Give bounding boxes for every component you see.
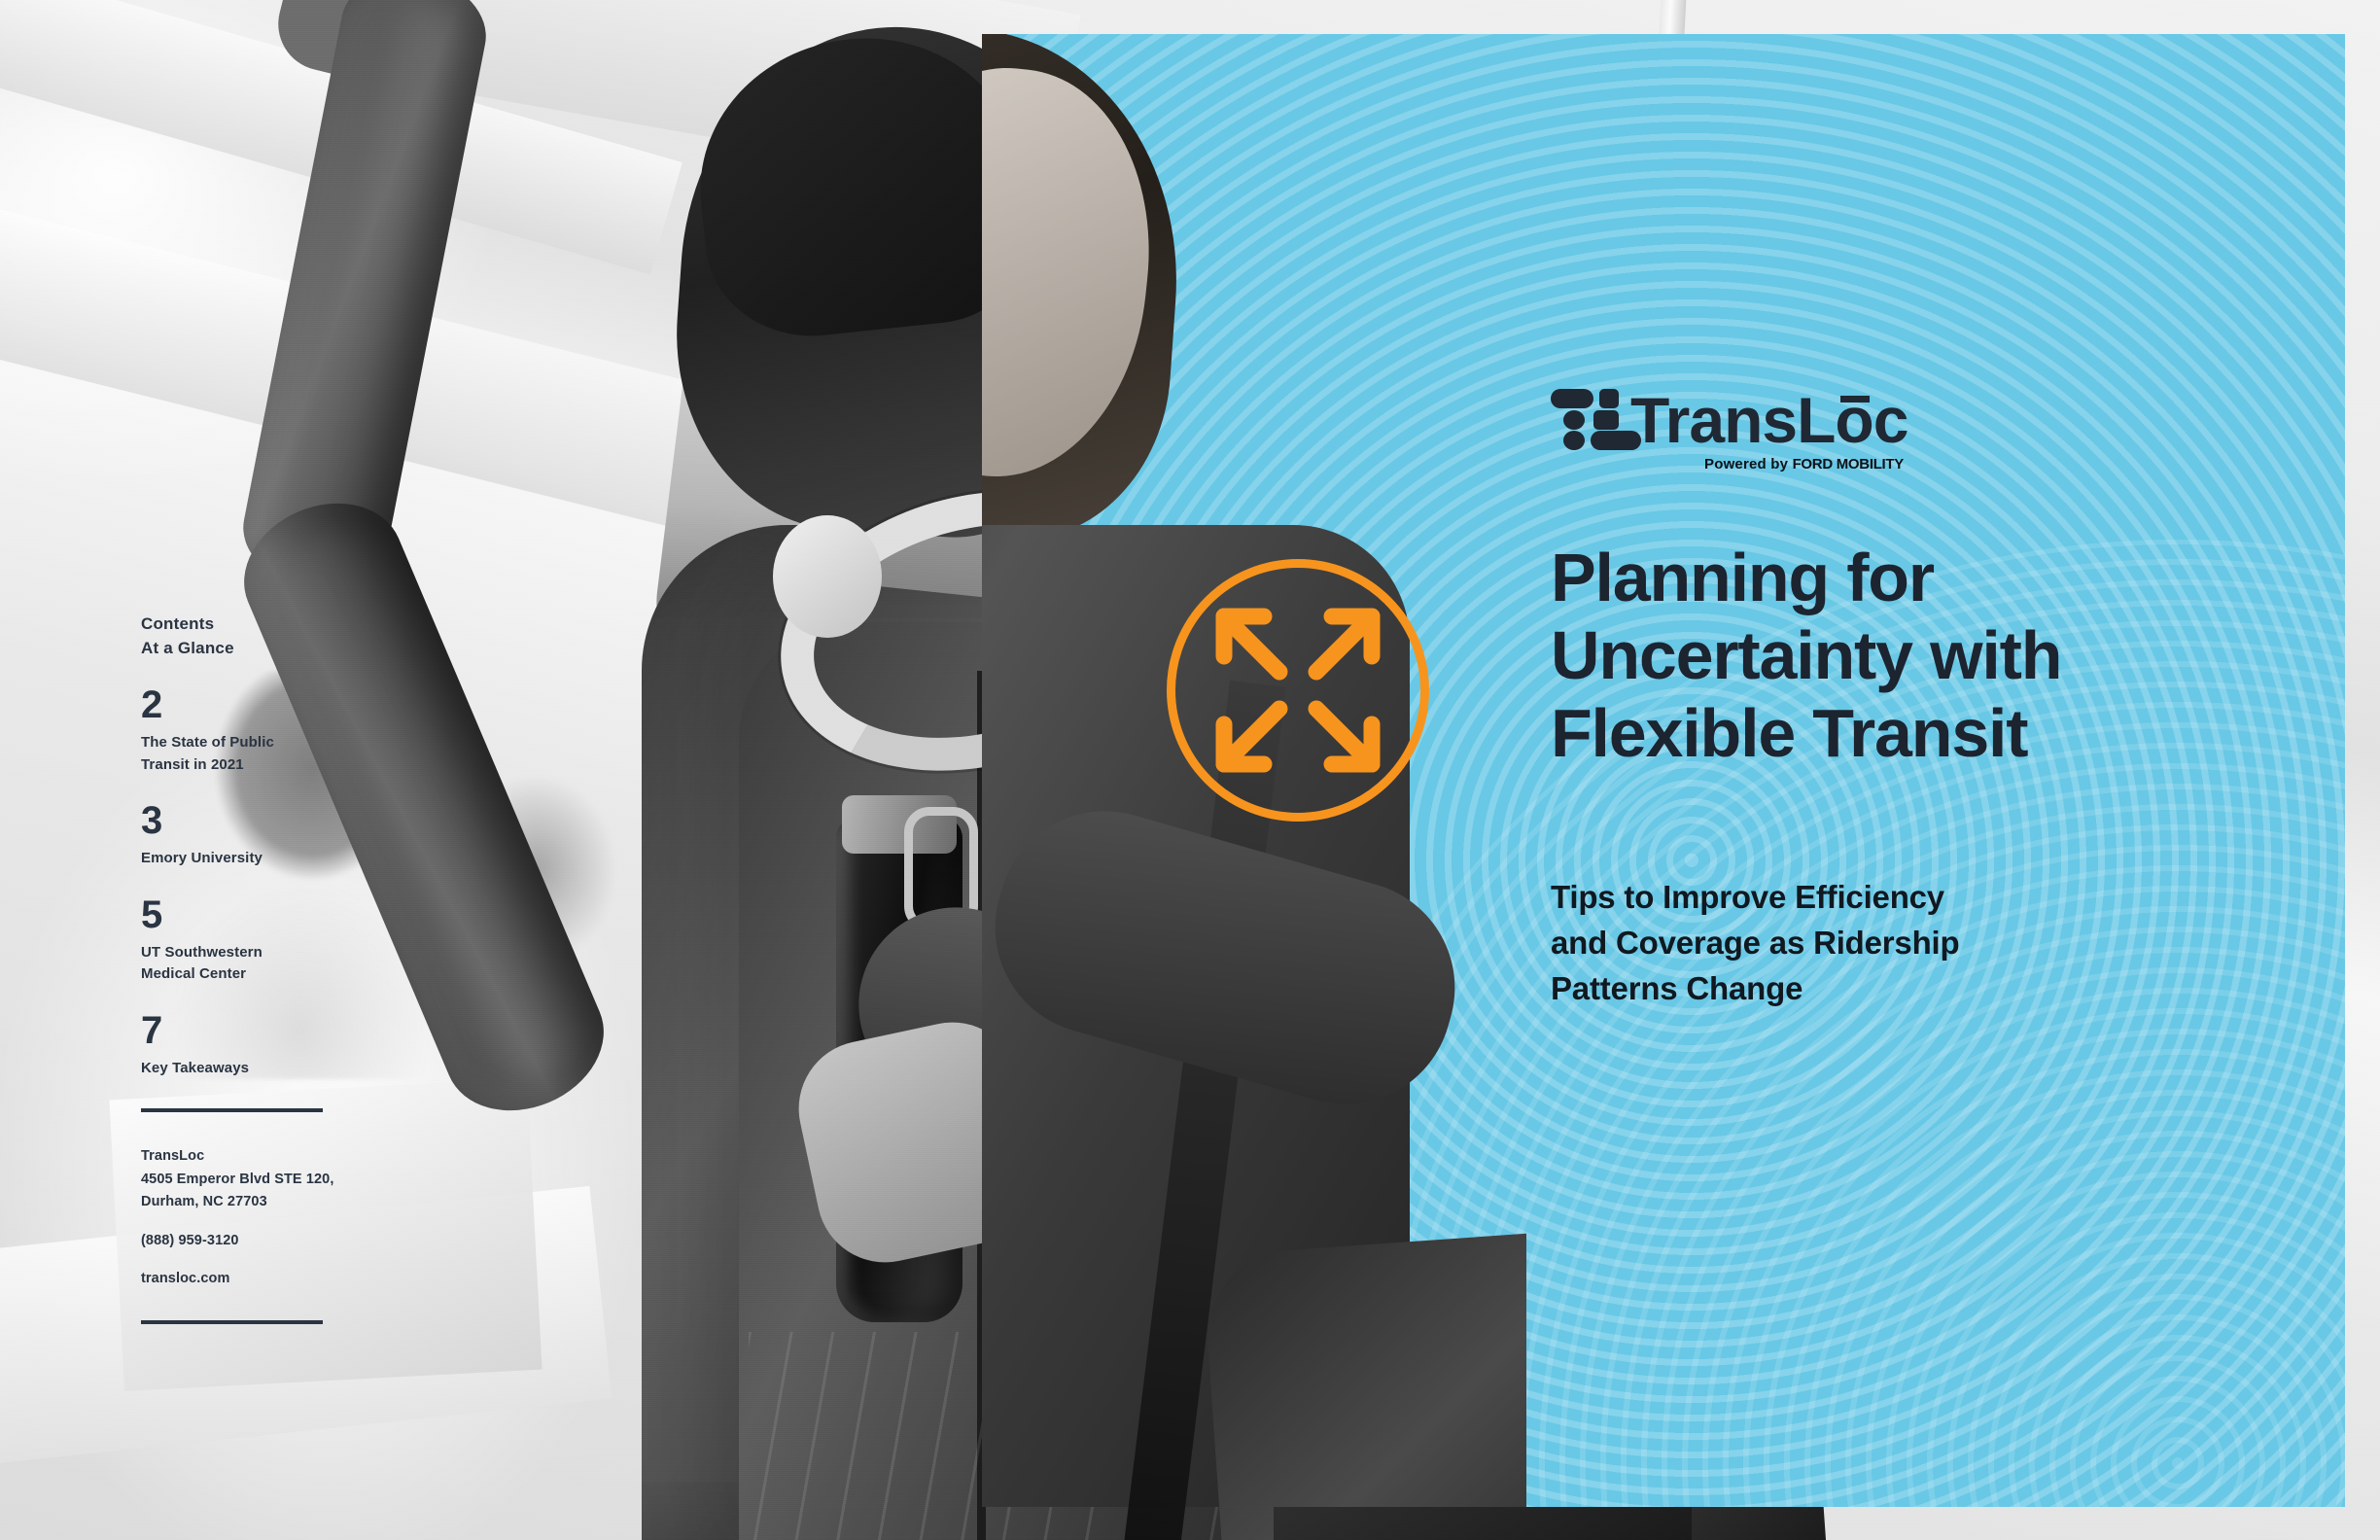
cover-title-line3: Flexible Transit <box>1551 695 2290 773</box>
toc-page-number: 7 <box>141 1011 413 1050</box>
cover-title-line2: Uncertainty with <box>1551 617 2290 695</box>
toc-entry-label: UT Southwestern Medical Center <box>141 942 413 986</box>
toc-entry-key-takeaways[interactable]: 7 Key Takeaways <box>141 1011 413 1080</box>
spacer <box>141 1252 413 1268</box>
powered-by-prefix: Powered by <box>1704 456 1793 472</box>
toc-entry-label: Key Takeaways <box>141 1058 413 1080</box>
transloc-dot-grid-icon <box>1551 389 1617 449</box>
toc-label-line1: Key Takeaways <box>141 1058 413 1080</box>
contact-block: TransLoc 4505 Emperor Blvd STE 120, Durh… <box>141 1145 413 1290</box>
toc-label-line1: Emory University <box>141 848 413 870</box>
toc-entry-ut-southwestern[interactable]: 5 UT Southwestern Medical Center <box>141 895 413 986</box>
cover-subtitle-line2: and Coverage as Ridership <box>1551 921 2173 966</box>
cover-subtitle-line3: Patterns Change <box>1551 966 2173 1012</box>
toc-page-number: 2 <box>141 685 413 724</box>
toc-label-line1: UT Southwestern <box>141 942 413 964</box>
cover-page: Contents At a Glance 2 The State of Publ… <box>0 0 2380 1540</box>
mark-dot-bottom-left <box>1563 431 1585 450</box>
toc-label-line2: Transit in 2021 <box>141 754 413 777</box>
toc-entry-label: Emory University <box>141 848 413 870</box>
toc-page-number: 3 <box>141 801 413 840</box>
toc-label-line1: The State of Public <box>141 732 413 754</box>
contents-sidebar: Contents At a Glance 2 The State of Publ… <box>141 612 413 1357</box>
toc-page-number: 5 <box>141 895 413 934</box>
mark-square-top-right <box>1599 389 1619 408</box>
contents-heading: Contents At a Glance <box>141 612 413 660</box>
contents-heading-line1: Contents <box>141 612 413 637</box>
toc-entry-emory-university[interactable]: 3 Emory University <box>141 801 413 870</box>
transloc-logo[interactable]: TransLoc Powered by FORD MOBILITY <box>1551 389 1907 472</box>
cover-subtitle: Tips to Improve Efficiency and Coverage … <box>1551 875 2173 1012</box>
contents-heading-line2: At a Glance <box>141 637 413 661</box>
divider-bottom <box>141 1320 323 1324</box>
contact-website-link[interactable]: transloc.com <box>141 1268 413 1290</box>
divider-top <box>141 1108 323 1112</box>
logo-macron-accent <box>1840 396 1870 402</box>
spacer <box>141 1214 413 1230</box>
expand-arrows-circle-icon <box>1167 559 1429 822</box>
cover-title-line1: Planning for <box>1551 540 2290 617</box>
toc-label-line2: Medical Center <box>141 963 413 986</box>
toc-entry-state-of-public-transit[interactable]: 2 The State of Public Transit in 2021 <box>141 685 413 776</box>
contact-address-line2: Durham, NC 27703 <box>141 1191 413 1213</box>
mark-pill-top-left <box>1551 389 1593 408</box>
contact-phone[interactable]: (888) 959-3120 <box>141 1230 413 1252</box>
contact-company: TransLoc <box>141 1145 413 1168</box>
cover-subtitle-line1: Tips to Improve Efficiency <box>1551 875 2173 921</box>
cover-title: Planning for Uncertainty with Flexible T… <box>1551 540 2290 772</box>
mark-square-middle-right <box>1593 410 1619 430</box>
logo-wordmark: TransLoc <box>1630 392 1907 449</box>
four-way-arrows-glyph <box>1194 586 1402 794</box>
toc-entry-label: The State of Public Transit in 2021 <box>141 732 413 776</box>
mark-dot-middle-left <box>1563 410 1585 430</box>
headphone-cup-left <box>773 515 882 638</box>
contact-address-line1: 4505 Emperor Blvd STE 120, <box>141 1169 413 1191</box>
powered-by-tagline: Powered by FORD MOBILITY <box>1704 456 1907 472</box>
powered-by-brand: FORD MOBILITY <box>1793 456 1904 472</box>
